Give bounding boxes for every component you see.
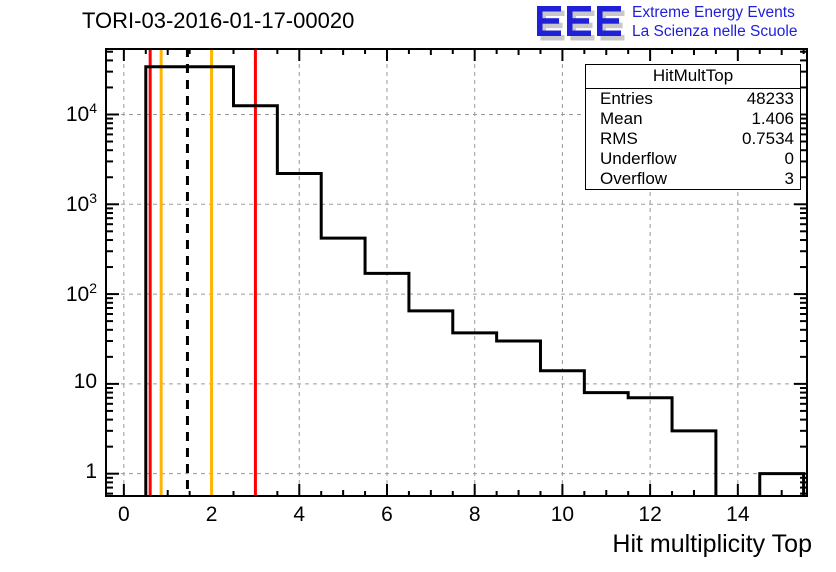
plot-canvas: TORI-03-2016-01-17-00020 Extreme Energy … [0,0,836,572]
stats-key: Underflow [586,149,715,169]
x-tick-label: 2 [192,503,232,527]
eee-logo-line2: La Scienza nelle Scuole [632,22,797,41]
stats-box: HitMultTop Entries48233Mean1.406RMS0.753… [585,64,801,190]
x-tick-label: 14 [718,503,758,527]
y-tick-label: 10 [74,370,97,394]
x-tick-label: 10 [542,503,582,527]
stats-row: Mean1.406 [586,109,800,129]
y-tick-label: 102 [66,280,97,307]
y-tick-label: 1 [85,460,97,484]
stats-row: Entries48233 [586,89,800,109]
stats-row: RMS0.7534 [586,129,800,149]
eee-logo-text: Extreme Energy Events La Scienza nelle S… [632,3,797,41]
page-title: TORI-03-2016-01-17-00020 [82,8,354,34]
x-tick-label: 12 [630,503,670,527]
stats-value: 3 [715,169,800,189]
eee-logo-line1: Extreme Energy Events [632,3,797,22]
stats-value: 0 [715,149,800,169]
x-tick-label: 4 [279,503,319,527]
stats-table: Entries48233Mean1.406RMS0.7534Underflow0… [586,89,800,189]
stats-title: HitMultTop [586,65,800,89]
y-tick-label: 104 [66,100,97,127]
y-tick-label: 103 [66,190,97,217]
stats-value: 1.406 [715,109,800,129]
x-tick-label: 6 [367,503,407,527]
x-axis-title: Hit multiplicity Top [612,530,812,559]
stats-key: Overflow [586,169,715,189]
eee-logo-mark-icon [536,4,628,42]
stats-key: Entries [586,89,715,109]
stats-key: Mean [586,109,715,129]
stats-key: RMS [586,129,715,149]
x-tick-label: 0 [104,503,144,527]
stats-value: 48233 [715,89,800,109]
eee-logo: Extreme Energy Events La Scienza nelle S… [536,2,834,44]
stats-row: Overflow3 [586,169,800,189]
stats-row: Underflow0 [586,149,800,169]
x-tick-label: 8 [455,503,495,527]
stats-value: 0.7534 [715,129,800,149]
